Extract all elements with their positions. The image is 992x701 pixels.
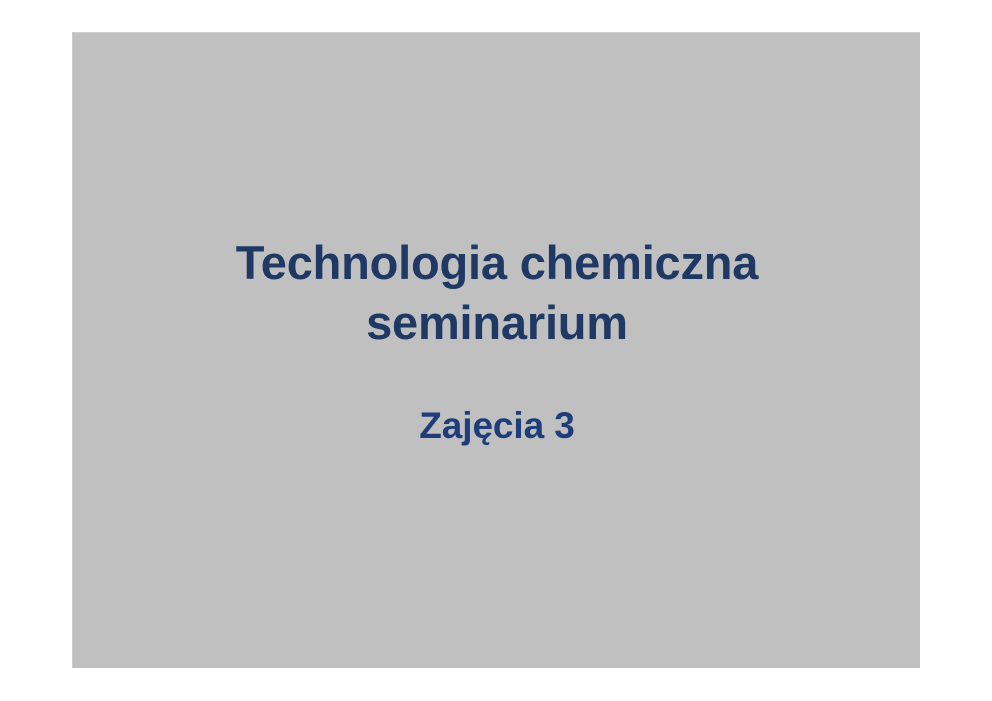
slide-surface[interactable]: Technologia chemiczna seminarium Zajęcia… bbox=[72, 32, 920, 668]
slide-title: Technologia chemiczna seminarium bbox=[73, 233, 921, 353]
slide-subtitle: Zajęcia 3 bbox=[73, 403, 921, 449]
presentation-canvas: Technologia chemiczna seminarium Zajęcia… bbox=[0, 0, 992, 701]
